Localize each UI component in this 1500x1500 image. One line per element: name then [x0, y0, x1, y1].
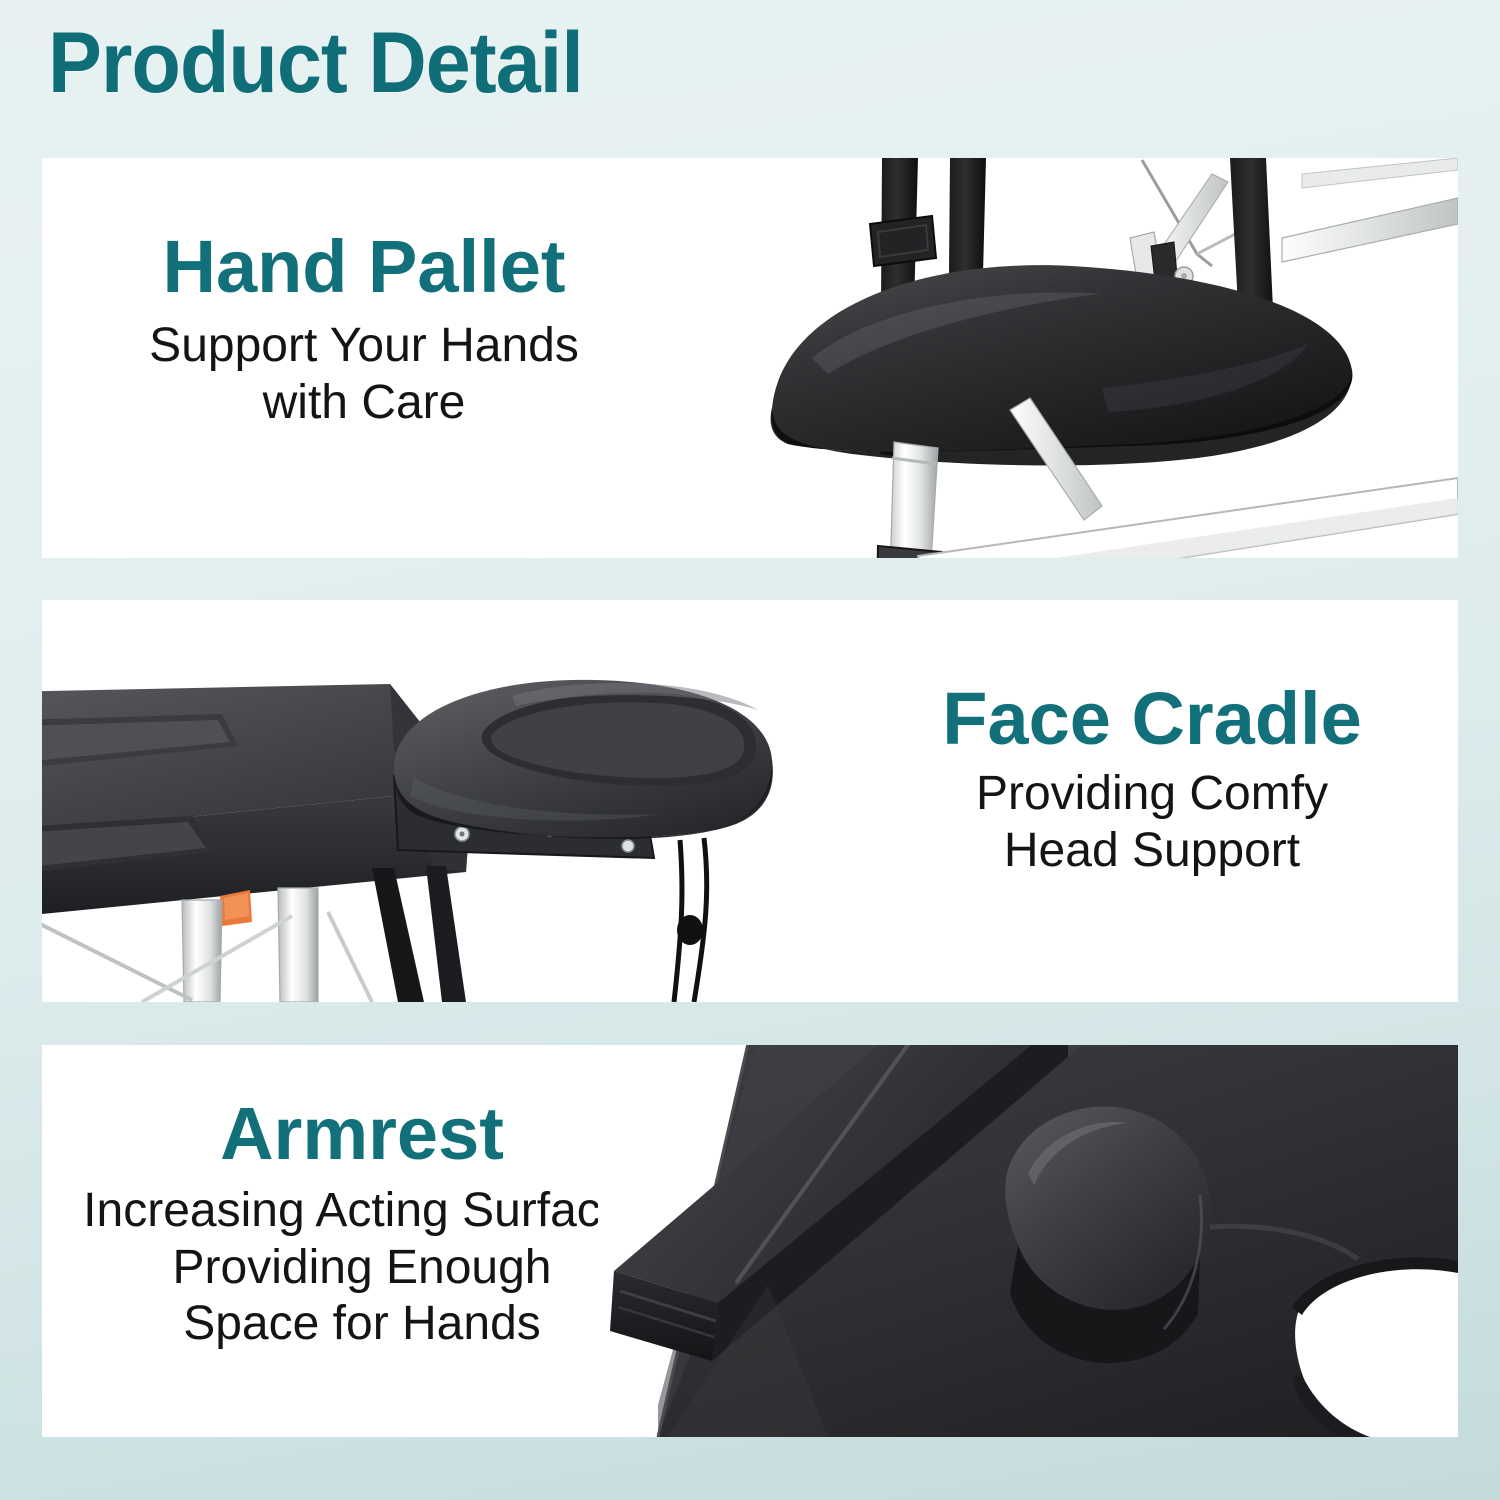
armrest-subtitle-line-3: Space for Hands — [52, 1296, 672, 1353]
armrest-text-block: Armrest Increasing Acting Surface, Provi… — [52, 1097, 672, 1353]
armrest-subtitle-line-1: Increasing Acting Surface, — [52, 1183, 672, 1240]
hand-pallet-subtitle-line-2: with Care — [64, 375, 664, 432]
panel-armrest: Armrest Increasing Acting Surface, Provi… — [42, 1045, 1458, 1437]
hand-pallet-subtitle-line-1: Support Your Hands — [64, 318, 664, 375]
face-cradle-subtitle-line-1: Providing Comfy — [862, 766, 1442, 823]
face-cradle-heading: Face Cradle — [862, 682, 1442, 756]
armrest-heading: Armrest — [52, 1097, 672, 1171]
hand-pallet-photo — [742, 158, 1458, 558]
hand-pallet-text-block: Hand Pallet Support Your Hands with Care — [64, 230, 664, 431]
face-cradle-subtitle-line-2: Head Support — [862, 823, 1442, 880]
page-title: Product Detail — [48, 14, 583, 113]
face-cradle-text-block: Face Cradle Providing Comfy Head Support — [862, 682, 1442, 879]
armrest-subtitle-line-2: Providing Enough — [52, 1240, 672, 1297]
armrest-photo — [598, 1045, 1458, 1437]
panel-face-cradle: Face Cradle Providing Comfy Head Support — [42, 600, 1458, 1002]
panel-hand-pallet: Hand Pallet Support Your Hands with Care — [42, 158, 1458, 558]
face-cradle-photo — [42, 600, 902, 1002]
hand-pallet-heading: Hand Pallet — [64, 230, 664, 304]
